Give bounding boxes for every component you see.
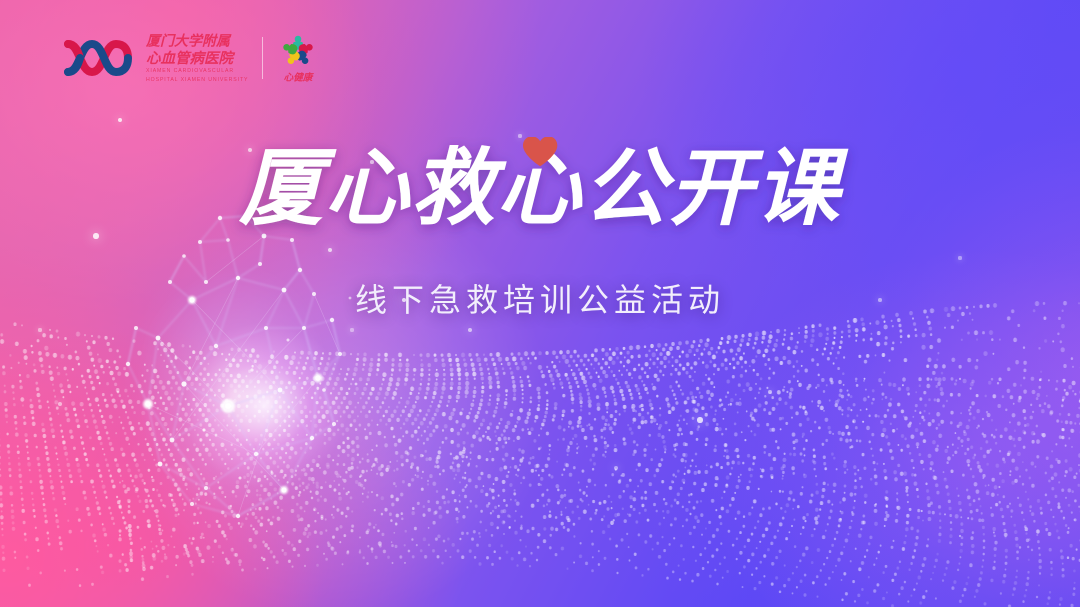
- sparkle-dot: [118, 118, 122, 122]
- sparkle-dot: [93, 233, 98, 238]
- headline-block: 厦心救心公开课: [0, 137, 1080, 241]
- bloom-bottom-left: [0, 330, 470, 607]
- sparkle-dot: [298, 194, 301, 197]
- sparkle-dot: [518, 134, 521, 137]
- sparkle-dot: [38, 328, 41, 331]
- particle-wave-field: [0, 300, 1080, 607]
- poster-canvas: 厦门大学附属 心血管病医院 XIAMEN CARDIOVASCULAR HOSP…: [0, 0, 1080, 607]
- wireframe-heart-illustration: [88, 178, 378, 548]
- hospital-logo-lockup: 厦门大学附属 心血管病医院 XIAMEN CARDIOVASCULAR HOSP…: [62, 27, 321, 89]
- hospital-name-cn-line1-text: 厦门大学附属: [146, 33, 232, 50]
- sparkle-dot: [614, 466, 618, 470]
- sparkle-dot: [768, 390, 772, 394]
- badge-label: 心健康: [276, 71, 320, 83]
- subtitle: 线下急救培训公益活动: [0, 275, 1080, 321]
- badge-label-text: 心健康: [284, 71, 315, 82]
- sparkle-dot: [370, 160, 374, 164]
- sparkle-dot: [248, 148, 252, 152]
- hospital-name-cn-line1: 厦门大学附属: [146, 32, 248, 49]
- sparkle-dot: [697, 417, 702, 422]
- sparkle-dot: [958, 256, 961, 259]
- main-title-text: 厦心救心公开课: [238, 141, 849, 235]
- heart-health-badge: 心健康: [275, 34, 321, 83]
- sparkle-dot: [178, 468, 182, 472]
- heart-glyph-icon: [523, 137, 557, 166]
- hospital-name-en-line2: HOSPITAL XIAMEN UNIVERSITY: [146, 76, 248, 84]
- hospital-name-cn-line2-text: 心血管病医院: [146, 50, 235, 67]
- sparkle-dot: [468, 328, 472, 332]
- sparkle-dot: [434, 204, 438, 208]
- interlocking-helix-logo-icon: [62, 32, 134, 84]
- sparkle-dot: [328, 248, 332, 252]
- main-title: 厦心救心公开课: [210, 137, 870, 241]
- logo-divider: [262, 37, 263, 79]
- sparkle-dot: [350, 328, 353, 331]
- hospital-name-en-line1: XIAMEN CARDIOVASCULAR: [146, 67, 248, 75]
- sparkle-dot: [58, 402, 62, 406]
- hospital-name-cn-line2: 心血管病医院: [146, 49, 248, 67]
- five-people-pinwheel-icon: [275, 34, 321, 70]
- heart-core-glow: [150, 290, 380, 520]
- bloom-center: [120, 190, 550, 607]
- hospital-name-block: 厦门大学附属 心血管病医院 XIAMEN CARDIOVASCULAR HOSP…: [142, 32, 248, 83]
